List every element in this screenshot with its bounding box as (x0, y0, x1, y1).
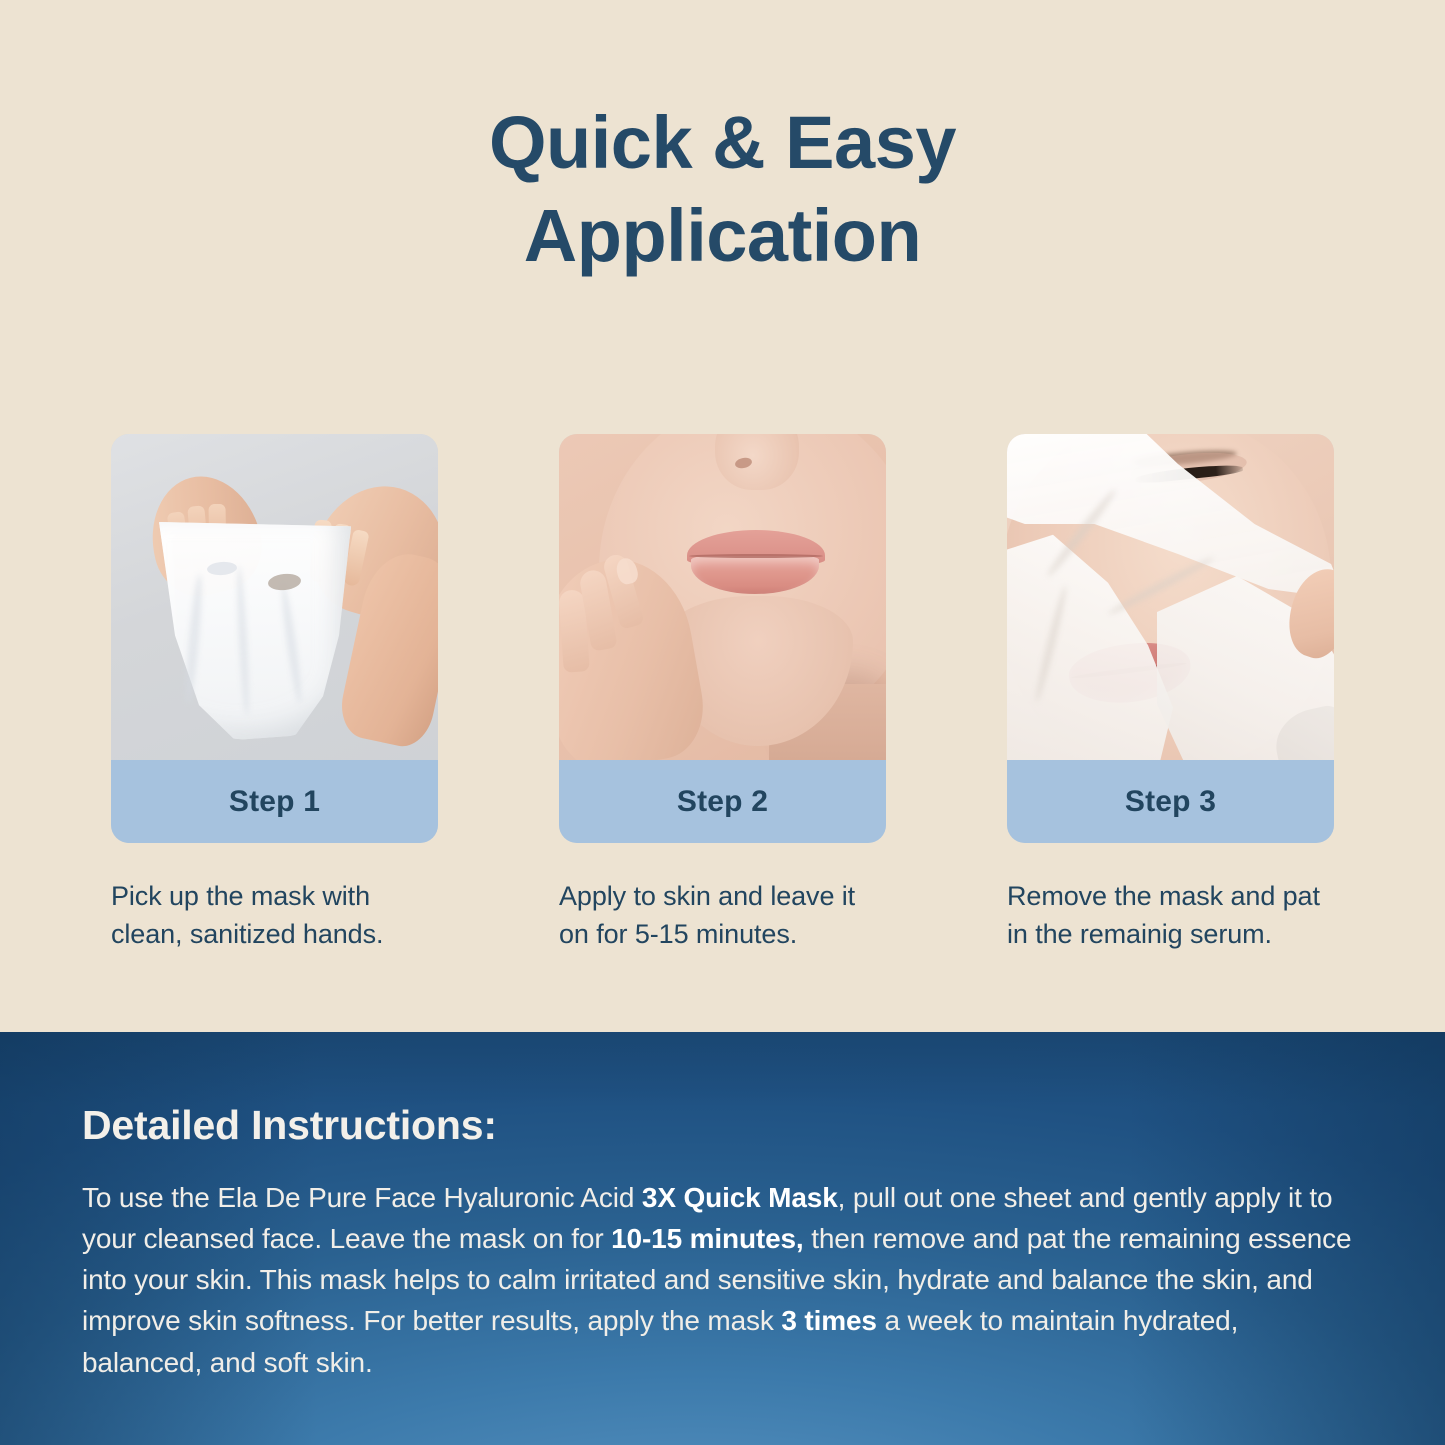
step-1-label-band: Step 1 (111, 760, 438, 843)
step-card-1: Step 1 Pick up the mask with clean, sani… (111, 434, 438, 954)
detailed-instructions-inner: Detailed Instructions: To use the Ela De… (0, 1032, 1445, 1383)
product-instructions-page: Quick & Easy Application (0, 0, 1445, 1445)
step-2-label-band: Step 2 (559, 760, 886, 843)
step-3-label-band: Step 3 (1007, 760, 1334, 843)
sheet-mask-shape (155, 522, 355, 740)
step-2-photo (559, 434, 886, 760)
step-3-label: Step 3 (1125, 785, 1216, 819)
step-1-photo (111, 434, 438, 760)
step-3-caption: Remove the mask and pat in the remainig … (1007, 877, 1334, 954)
detailed-instructions-body: To use the Ela De Pure Face Hyaluronic A… (82, 1177, 1363, 1383)
step-2-label: Step 2 (677, 785, 768, 819)
step-1-label: Step 1 (229, 785, 320, 819)
steps-row: Step 1 Pick up the mask with clean, sani… (111, 434, 1334, 954)
step-card-3-frame: Step 3 (1007, 434, 1334, 843)
step-card-2-frame: Step 2 (559, 434, 886, 843)
page-title-line-2: Application (0, 189, 1445, 282)
instructions-segment-3: 10-15 minutes, (611, 1223, 803, 1254)
detailed-instructions-title: Detailed Instructions: (82, 1102, 1363, 1149)
step-card-3: Step 3 Remove the mask and pat in the re… (1007, 434, 1334, 954)
top-section: Quick & Easy Application (0, 0, 1445, 1032)
step-2-caption: Apply to skin and leave it on for 5-15 m… (559, 877, 886, 954)
instructions-segment-0: To use the Ela De Pure Face Hyaluronic A… (82, 1182, 642, 1213)
detailed-instructions-section: Detailed Instructions: To use the Ela De… (0, 1032, 1445, 1445)
step-1-caption: Pick up the mask with clean, sanitized h… (111, 877, 438, 954)
instructions-segment-5: 3 times (781, 1305, 876, 1336)
step-3-photo (1007, 434, 1334, 760)
lip-line (689, 554, 823, 558)
step-card-2: Step 2 Apply to skin and leave it on for… (559, 434, 886, 954)
instructions-segment-1: 3X Quick Mask (642, 1182, 838, 1213)
step-card-1-frame: Step 1 (111, 434, 438, 843)
page-title-line-1: Quick & Easy (489, 101, 956, 184)
page-title: Quick & Easy Application (0, 96, 1445, 282)
